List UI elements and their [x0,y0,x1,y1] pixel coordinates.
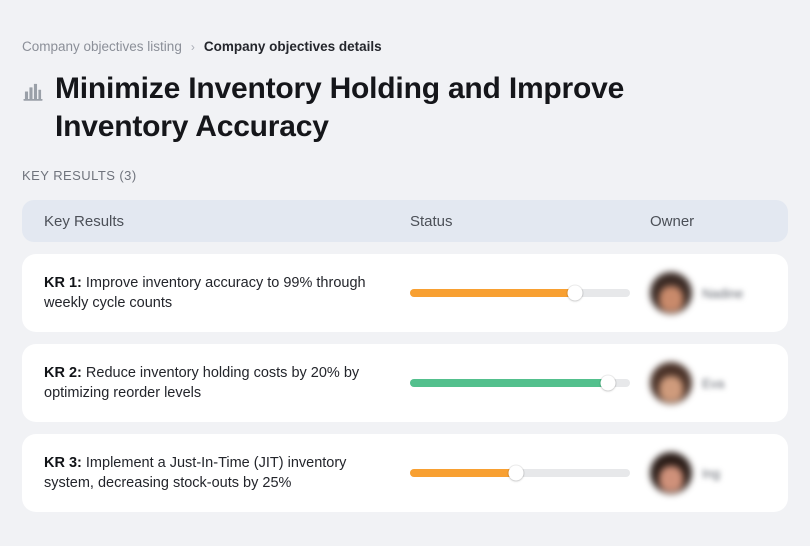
key-result-description: Improve inventory accuracy to 99% throug… [44,275,366,311]
chevron-right-icon: › [191,38,195,56]
progress-bar[interactable] [410,289,630,297]
status-cell [410,379,650,387]
table-row[interactable]: KR 3: Implement a Just-In-Time (JIT) inv… [22,434,788,512]
column-header-owner: Owner [650,213,766,230]
key-results-table: Key Results Status Owner KR 1: Improve i… [22,200,788,512]
progress-thumb[interactable] [568,286,583,301]
avatar [650,272,692,314]
table-header-row: Key Results Status Owner [22,200,788,242]
column-header-key-results: Key Results [44,213,410,230]
breadcrumb-link-listing[interactable]: Company objectives listing [22,38,182,56]
progress-fill [410,289,575,297]
page-root: Company objectives listing › Company obj… [0,0,810,546]
owner-cell[interactable]: Ing [650,452,766,494]
key-result-cell: KR 2: Reduce inventory holding costs by … [44,363,410,403]
table-row[interactable]: KR 1: Improve inventory accuracy to 99% … [22,254,788,332]
key-result-cell: KR 3: Implement a Just-In-Time (JIT) inv… [44,453,410,493]
owner-name: Ing [702,466,720,481]
avatar [650,362,692,404]
key-result-text: KR 3: Implement a Just-In-Time (JIT) inv… [44,453,374,493]
owner-name: Eva [702,376,724,391]
progress-bar[interactable] [410,469,630,477]
progress-bar[interactable] [410,379,630,387]
progress-fill [410,469,516,477]
page-title-row: Minimize Inventory Holding and Improve I… [22,70,722,146]
breadcrumb: Company objectives listing › Company obj… [22,0,788,56]
key-result-label: KR 1: [44,275,82,291]
avatar-face [659,376,683,402]
key-result-text: KR 1: Improve inventory accuracy to 99% … [44,273,374,313]
status-cell [410,289,650,297]
table-row[interactable]: KR 2: Reduce inventory holding costs by … [22,344,788,422]
key-results-section-label: KEY RESULTS (3) [22,168,788,183]
key-result-label: KR 2: [44,365,82,381]
key-result-label: KR 3: [44,455,82,471]
owner-cell[interactable]: Eva [650,362,766,404]
key-result-cell: KR 1: Improve inventory accuracy to 99% … [44,273,410,313]
breadcrumb-current-details: Company objectives details [204,38,382,56]
progress-thumb[interactable] [508,466,523,481]
avatar-face [659,466,683,492]
page-title: Minimize Inventory Holding and Improve I… [55,70,722,146]
progress-fill [410,379,608,387]
owner-name: Nadine [702,286,743,301]
key-result-text: KR 2: Reduce inventory holding costs by … [44,363,374,403]
avatar-face [659,286,683,312]
progress-thumb[interactable] [601,376,616,391]
avatar [650,452,692,494]
key-result-description: Implement a Just-In-Time (JIT) inventory… [44,455,346,491]
owner-cell[interactable]: Nadine [650,272,766,314]
bar-chart-icon [22,81,44,103]
column-header-status: Status [410,213,650,230]
status-cell [410,469,650,477]
key-result-description: Reduce inventory holding costs by 20% by… [44,365,359,401]
